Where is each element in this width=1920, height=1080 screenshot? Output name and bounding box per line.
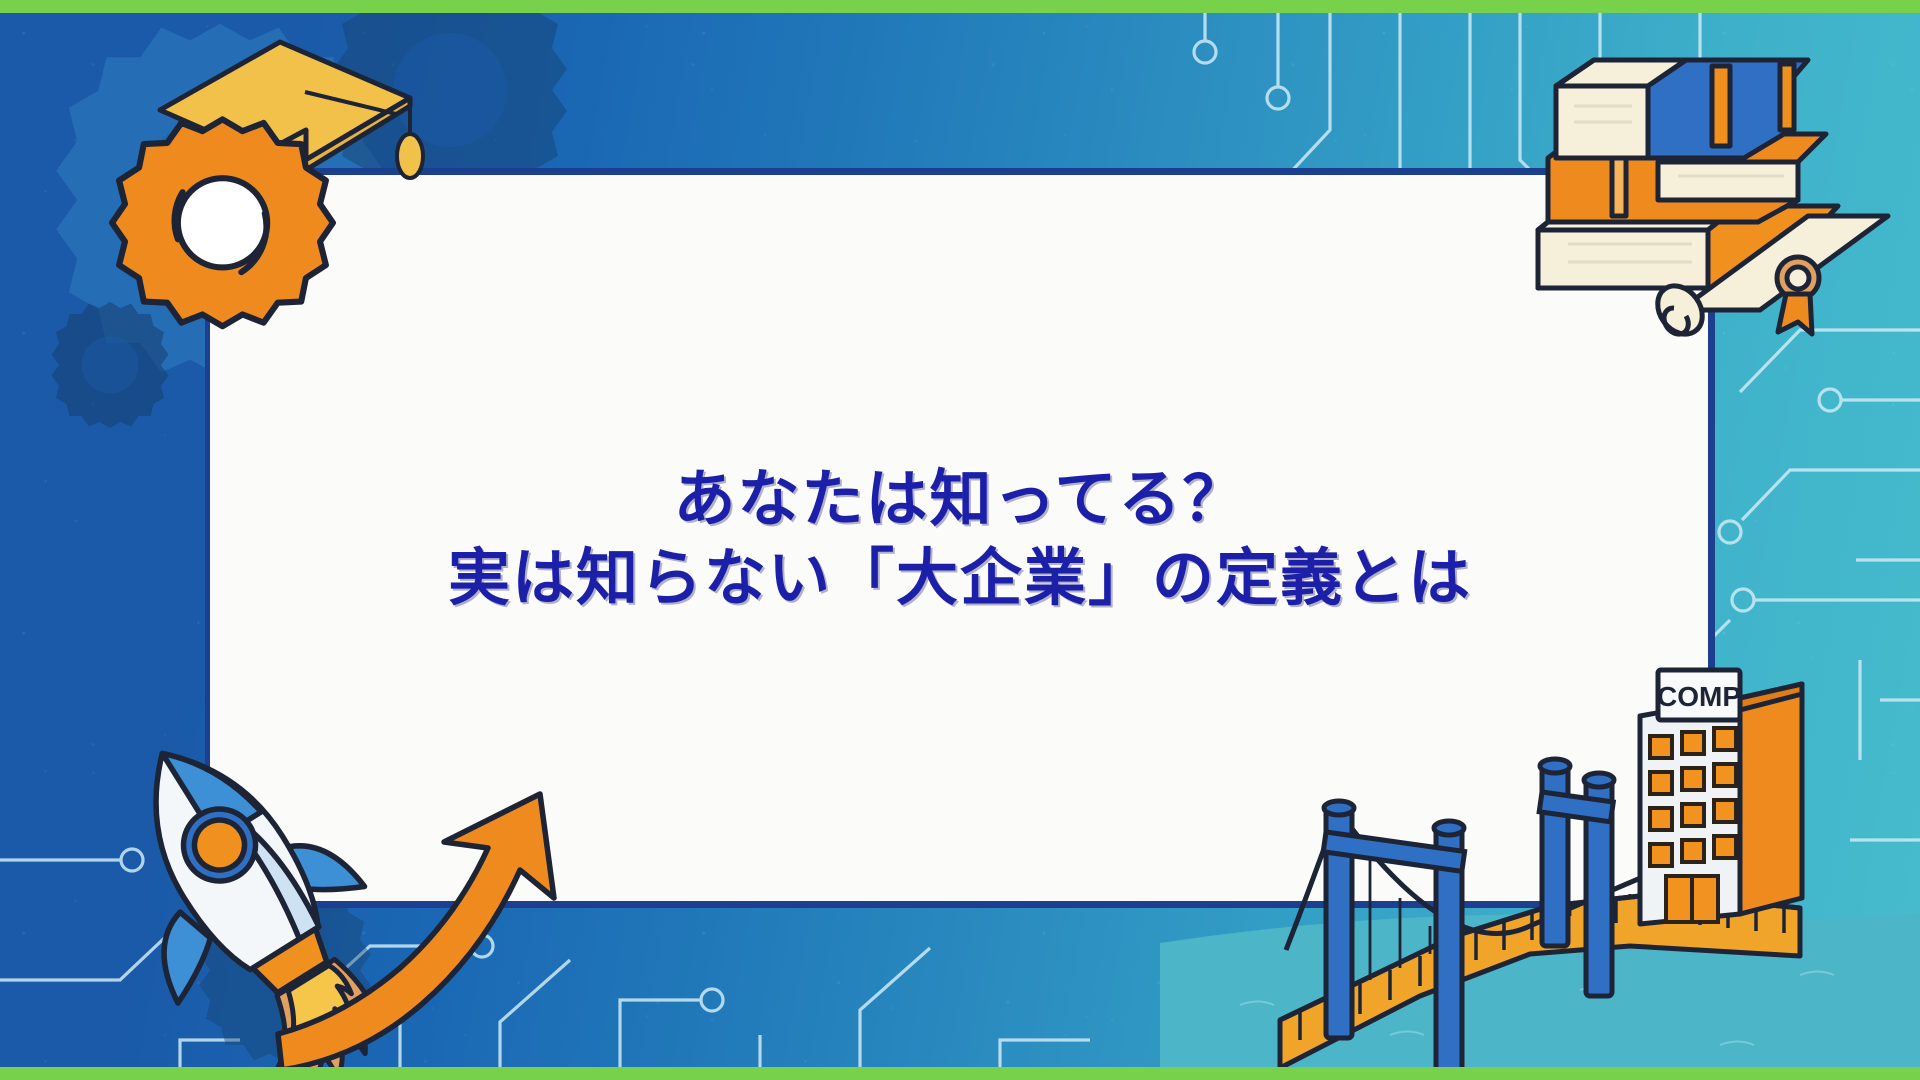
office-building-icon: COMP	[1640, 658, 1910, 948]
top-edge-band	[0, 0, 1920, 13]
building-sign-label: COMP	[1657, 681, 1741, 712]
diploma-scroll-icon	[1648, 182, 1908, 342]
gear-icon	[105, 110, 340, 345]
growth-arrow-icon	[268, 790, 568, 1060]
poster-canvas: あなたは知ってる？ 実は知らない「大企業」の定義とは	[0, 0, 1920, 1080]
bottom-edge-band	[0, 1067, 1920, 1080]
